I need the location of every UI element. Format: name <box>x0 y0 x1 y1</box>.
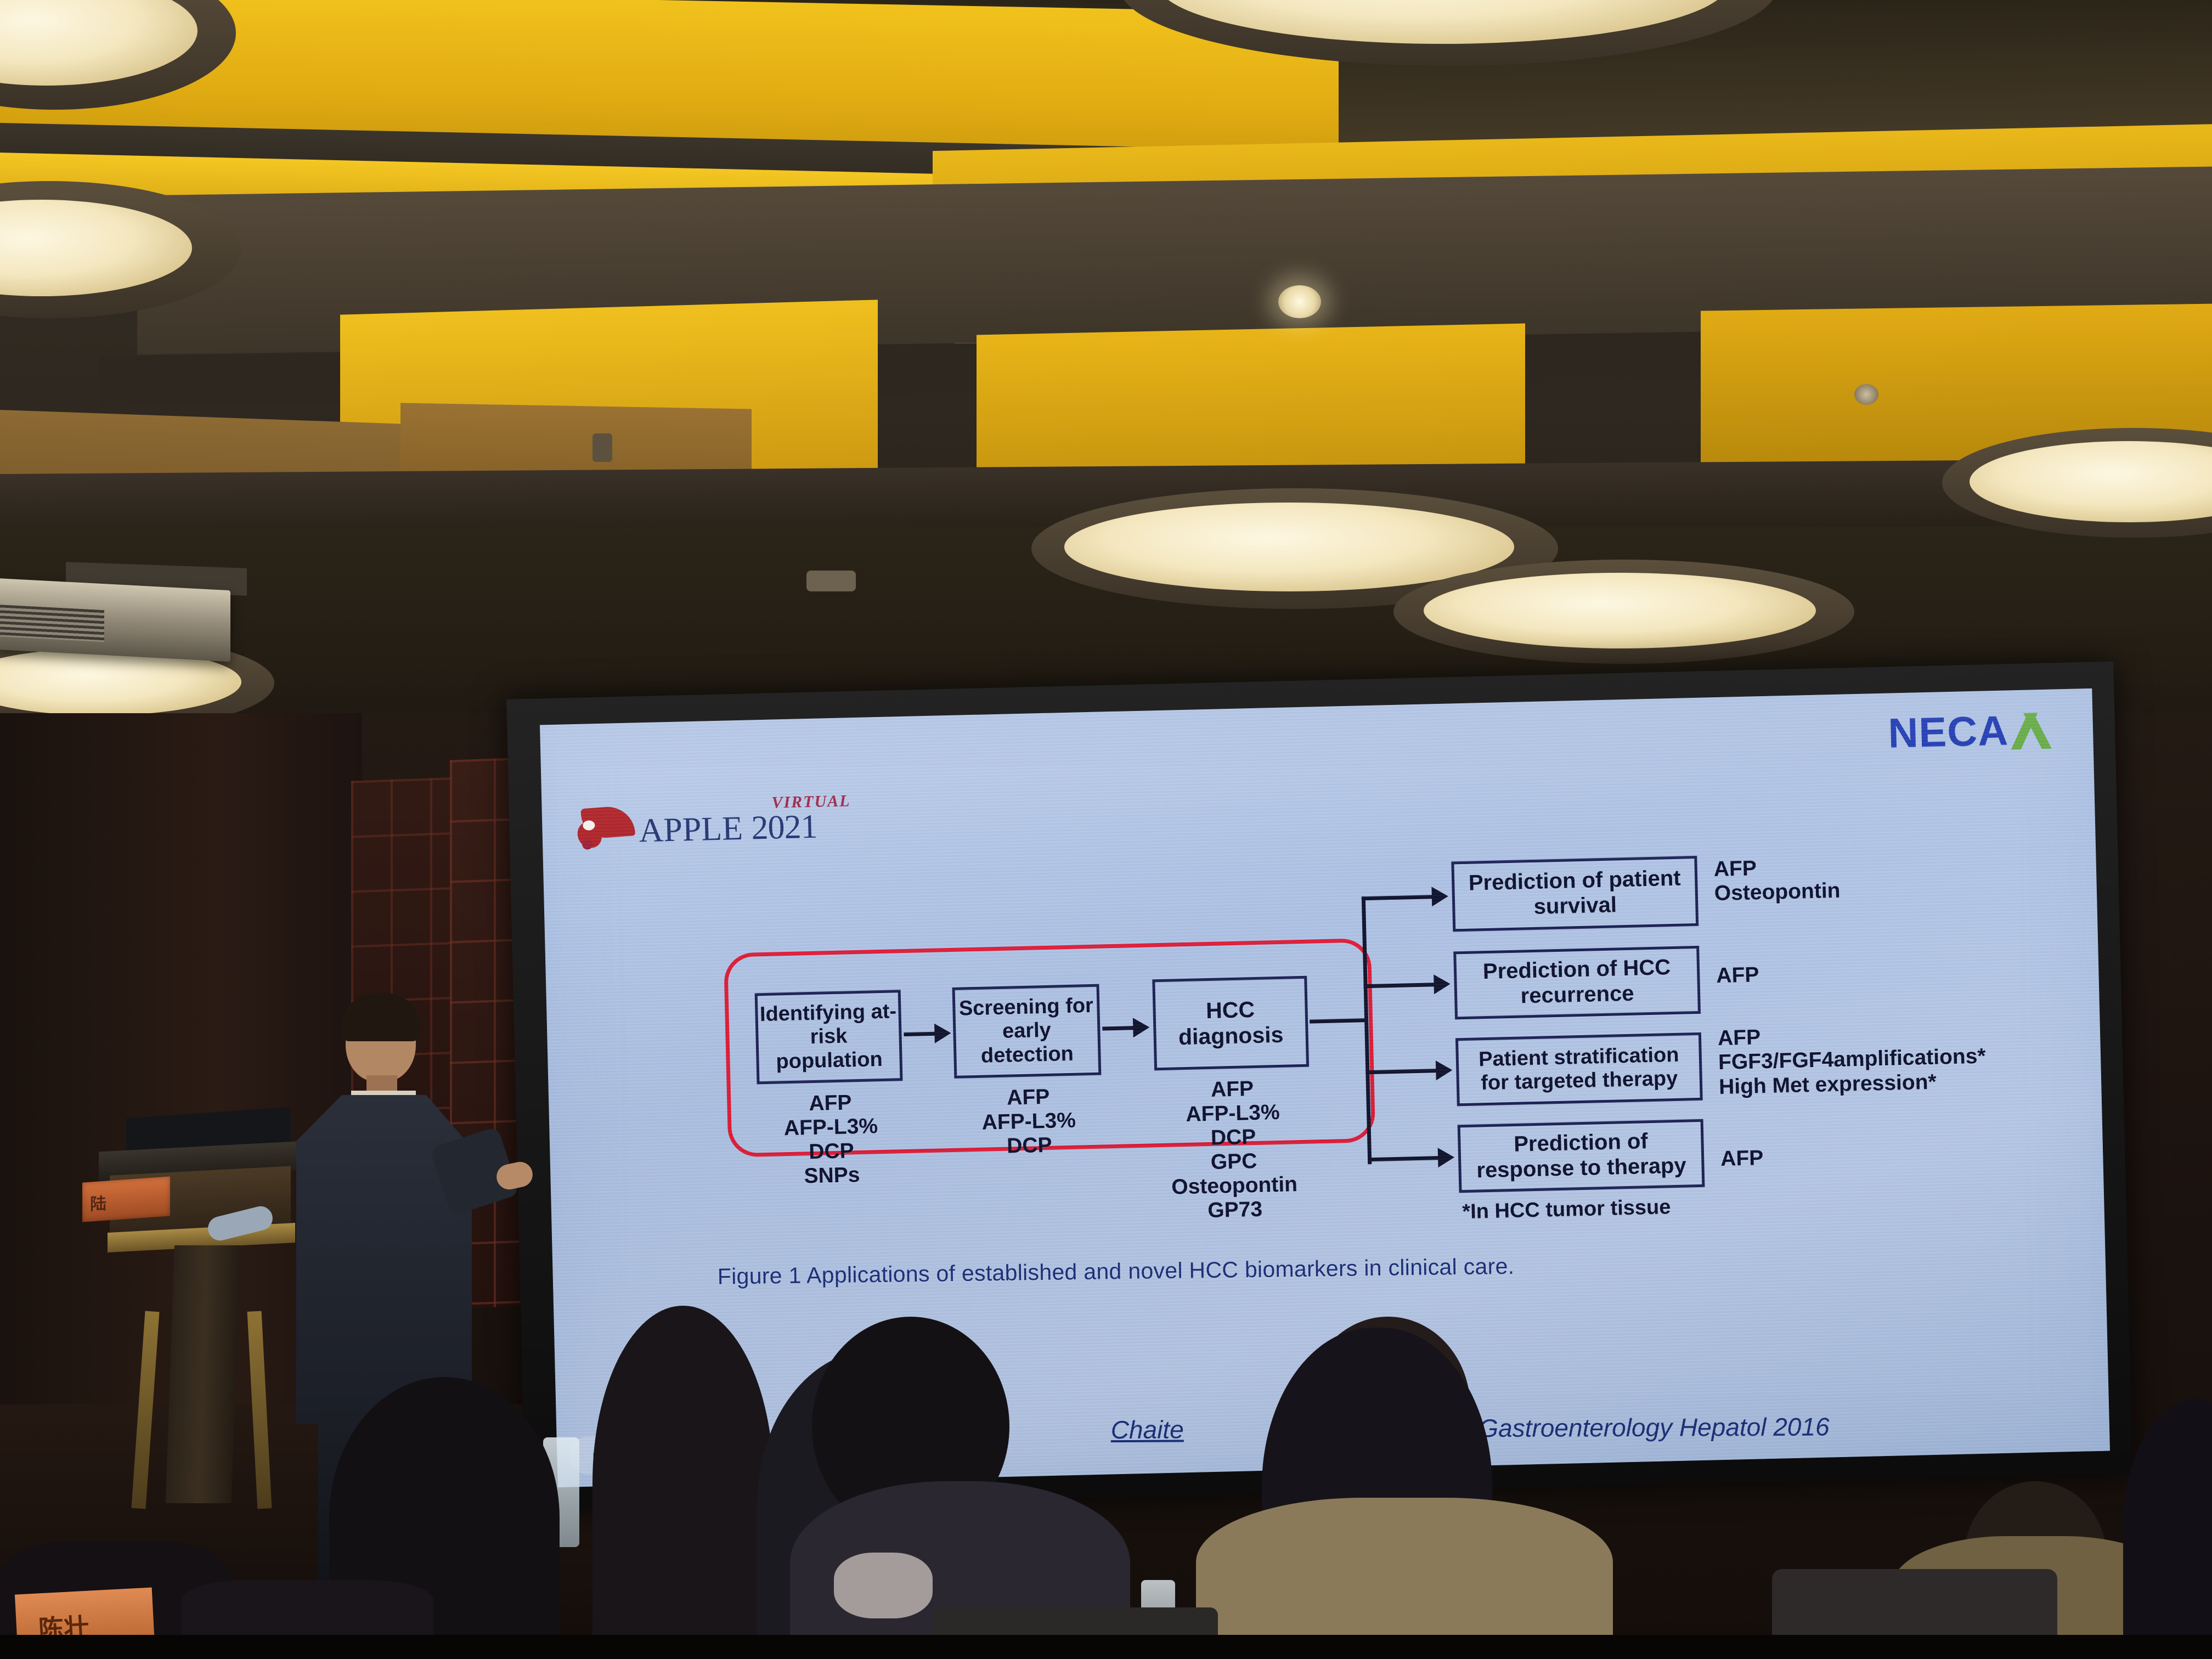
outcome-box-response[interactable]: Prediction of response to therapy <box>1458 1119 1705 1193</box>
arrow-shaft <box>1368 1156 1439 1161</box>
outcome-box-recurrence[interactable]: Prediction of HCC recurrence <box>1453 946 1701 1020</box>
flow-box-screening[interactable]: Screening for early detection <box>952 984 1101 1079</box>
arrow-head <box>934 1023 951 1043</box>
presenter-hair <box>341 993 420 1041</box>
ceiling <box>0 0 2212 730</box>
arrow-head <box>1436 1060 1453 1081</box>
arrow-shaft <box>1364 983 1435 988</box>
ceiling-light-fixture <box>1393 560 1854 664</box>
citation-author: Chaite <box>1111 1415 1184 1444</box>
recessed-spotlight <box>1278 285 1321 318</box>
photo-canvas: VIRTUAL APPLE 2021 NECA Identifying at-r… <box>0 0 2212 1659</box>
arrow-head <box>1438 1147 1455 1167</box>
arrow-head <box>1133 1018 1150 1038</box>
diagram-footnote: *In HCC tumor tissue <box>1462 1195 1671 1224</box>
markers-survival: AFP Osteopontin <box>1713 855 1841 906</box>
lectern-leg <box>247 1311 272 1509</box>
outcome-box-stratification[interactable]: Patient stratification for targeted ther… <box>1455 1032 1703 1107</box>
arrow-shaft <box>1102 1026 1134 1030</box>
sprinkler-head <box>592 433 612 462</box>
markers-hcc-diagnosis: AFP AFP-L3% DCP GPC Osteopontin GP73 <box>1147 1075 1321 1224</box>
citation-journal: Clin Gastroenterology Hepatol 2016 <box>1428 1412 1830 1442</box>
markers-identify: AFP AFP-L3% DCP SNPs <box>757 1090 905 1189</box>
flow-box-hcc-diagnosis[interactable]: HCC diagnosis <box>1152 976 1309 1071</box>
markers-stratification: AFP FGF3/FGF4amplifications* High Met ex… <box>1718 1020 1987 1100</box>
arrow-head <box>1431 887 1448 907</box>
arrow-head <box>1434 974 1451 995</box>
face-mask <box>834 1553 933 1618</box>
flow-box-identify[interactable]: Identifying at-risk population <box>755 990 903 1084</box>
ceiling-projector <box>0 578 230 662</box>
arrow-shaft <box>904 1032 935 1036</box>
markers-screening: AFP AFP-L3% DCP <box>955 1084 1103 1160</box>
outcome-box-survival[interactable]: Prediction of patient survival <box>1451 856 1699 932</box>
arrow-shaft <box>1362 895 1433 900</box>
projector-vent <box>0 605 104 642</box>
lectern-stem <box>166 1245 240 1503</box>
markers-recurrence: AFP <box>1716 963 1759 988</box>
source-citation: Chaite Clin Gastroenterology Hepatol 201… <box>1111 1410 2110 1444</box>
ceiling-vent <box>806 571 856 591</box>
lectern-name-card: 陆 <box>82 1176 170 1222</box>
lectern-leg <box>131 1311 159 1509</box>
ceiling-speaker <box>1854 384 1878 405</box>
arrow-shaft <box>1365 1069 1437 1074</box>
audience-silhouette <box>592 1306 774 1659</box>
lectern-name-card-text: 陆 <box>90 1189 108 1215</box>
photo-bottom-edge <box>0 1635 2212 1659</box>
lectern: 陆 <box>88 1147 307 1520</box>
markers-response: AFP <box>1720 1146 1764 1171</box>
